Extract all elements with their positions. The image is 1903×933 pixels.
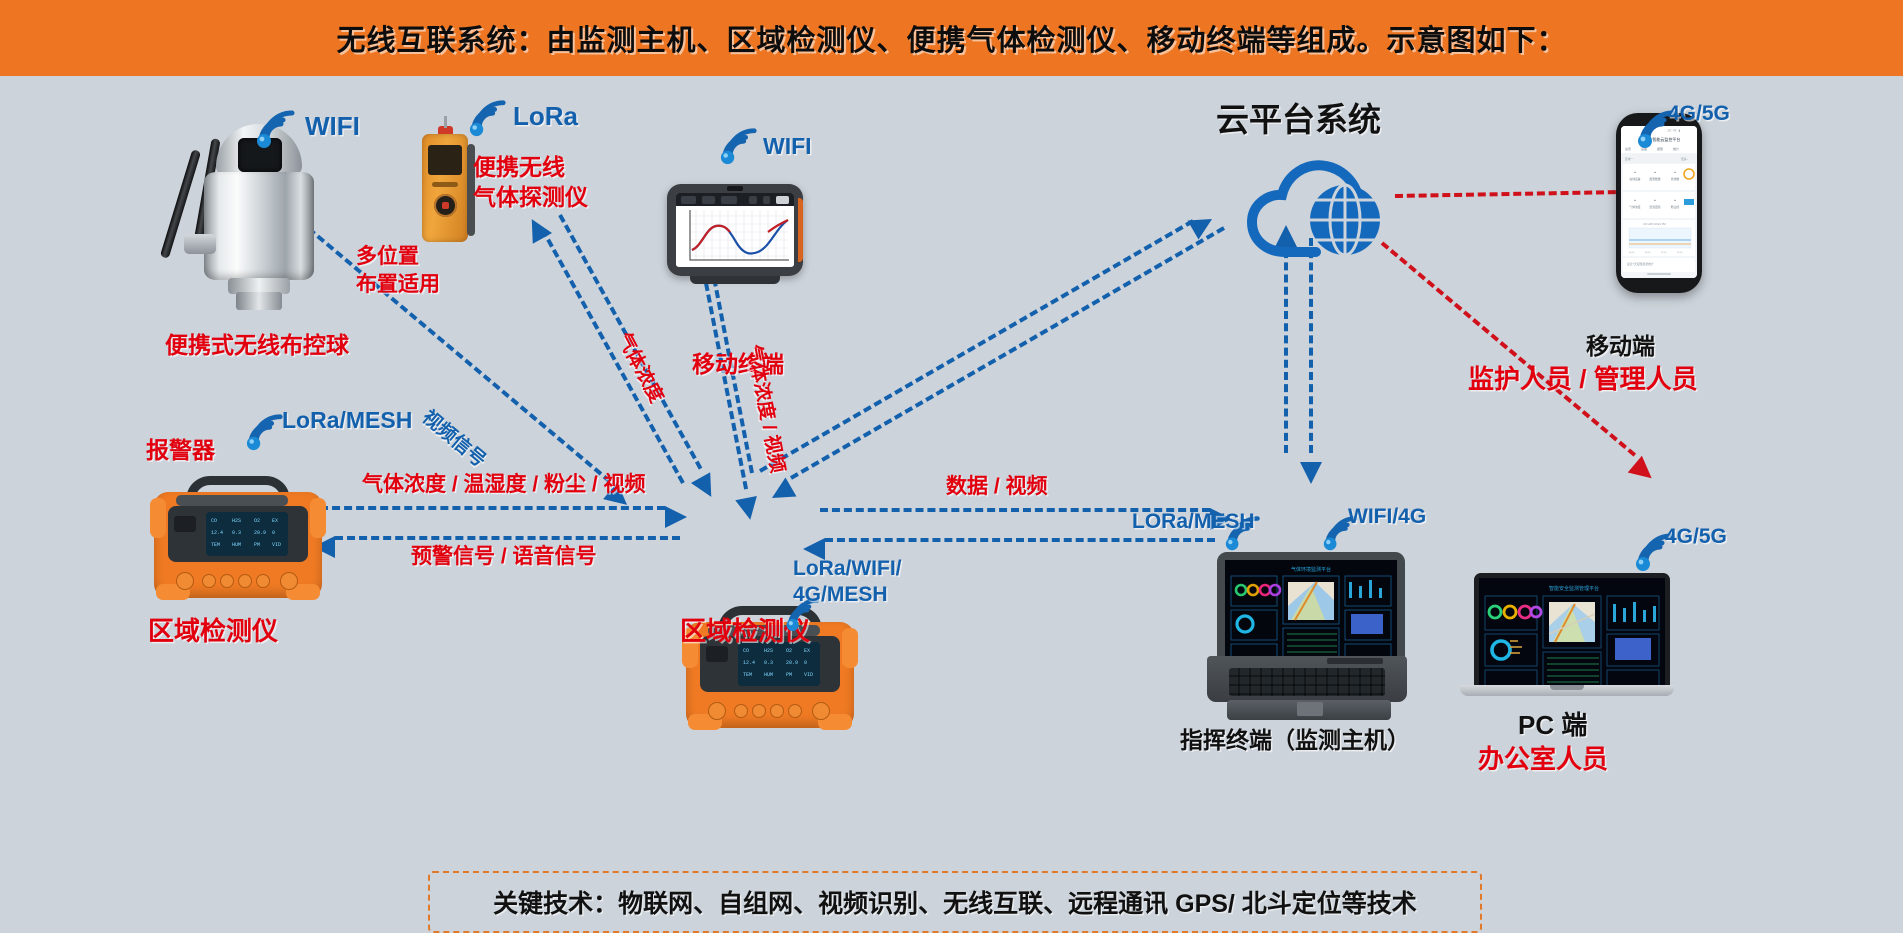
svg-text:气体环境监测平台: 气体环境监测平台 <box>1291 566 1331 573</box>
flow-label-video-signal: 视频信号 <box>417 406 490 473</box>
tablet-status-bar <box>676 193 794 206</box>
lora-mesh-label-alarm: LoRa/MESH <box>282 406 412 434</box>
svg-text:在线设备: 在线设备 <box>1629 177 1640 181</box>
svg-text:温湿度值: 温湿度值 <box>1649 205 1660 209</box>
tablet-status-pill <box>749 196 756 204</box>
connector-cloud-to-area-mid <box>790 226 1225 479</box>
svg-text:O2: O2 <box>786 648 792 654</box>
connector-area-left-to-area-mid <box>320 506 665 510</box>
svg-text:离线数: 离线数 <box>1671 177 1680 181</box>
device-command-terminal[interactable]: 气体环境监测平台 <box>1203 552 1418 722</box>
ptz-base <box>236 292 282 310</box>
svg-text:PM: PM <box>786 672 792 678</box>
lora-wifi-label-line2: 4G/MESH <box>793 582 888 608</box>
svg-text:0.3: 0.3 <box>764 660 773 666</box>
tablet-side-grip <box>798 198 803 262</box>
arrowhead-cloud-to-area-mid <box>766 477 796 507</box>
area-detector-speaker <box>174 516 196 532</box>
wifi-4g-label-command: WIFI/4G <box>1348 504 1426 530</box>
svg-text:报警数量: 报警数量 <box>1649 177 1660 181</box>
svg-text:CO: CO <box>211 518 217 524</box>
connector-handheld-to-area-mid <box>541 228 685 484</box>
wifi-label-ptz: WIFI <box>305 111 360 143</box>
svg-text:12.4: 12.4 <box>743 660 755 666</box>
command-terminal-status-strip <box>1327 658 1383 664</box>
area-detector-left-label: 区域检测仪 <box>148 616 278 648</box>
svg-text:粉尘值: 粉尘值 <box>1671 205 1680 209</box>
arrowhead-area-left-to-area-mid <box>665 506 687 528</box>
area-detector-button[interactable] <box>708 702 726 720</box>
area-detector-button[interactable] <box>238 574 252 588</box>
command-terminal-lid: 气体环境监测平台 <box>1217 552 1405 672</box>
handheld-probe <box>444 116 447 128</box>
svg-text:更多 ›: 更多 › <box>1681 157 1688 161</box>
area-detector-button[interactable] <box>812 702 830 720</box>
svg-text:区域一: 区域一 <box>1625 157 1634 161</box>
arrowhead-cloud-to-command <box>1300 462 1322 484</box>
handheld-vent <box>432 182 458 187</box>
svg-text:O2: O2 <box>254 518 260 524</box>
tablet-chart <box>676 206 794 266</box>
svg-text:H2S: H2S <box>232 518 241 524</box>
svg-text:▲: ▲ <box>1674 170 1677 174</box>
svg-text:▲: ▲ <box>1654 198 1657 202</box>
area-detector-screen: COH2SO2EX 12.40.320.90 TEMHUMPMVID <box>738 642 820 686</box>
lora-wifi-label-line1: LoRa/WIFI/ <box>793 556 902 582</box>
svg-text:智能安全监测管理平台: 智能安全监测管理平台 <box>1549 585 1599 592</box>
svg-text:06:00: 06:00 <box>1645 252 1651 254</box>
svg-text:12.4: 12.4 <box>211 530 223 536</box>
pc-label: PC 端 <box>1518 710 1587 742</box>
area-detector-screen: COH2SO2EX 12.40.320.90 TEMHUMPMVID <box>206 512 288 556</box>
4g5g-label-pc: 4G/5G <box>1665 524 1727 550</box>
svg-text:20.9: 20.9 <box>786 660 798 666</box>
lora-label-handheld: LoRa <box>513 101 578 133</box>
svg-text:HUM: HUM <box>764 672 773 678</box>
device-area-detector-left[interactable]: COH2SO2EX 12.40.320.90 TEMHUMPMVID <box>148 476 328 606</box>
area-detector-button[interactable] <box>788 704 802 718</box>
svg-text:最近7天报警趋势统计: 最近7天报警趋势统计 <box>1627 262 1654 266</box>
command-terminal-keyboard[interactable] <box>1229 668 1385 696</box>
svg-text:气体浓度: 气体浓度 <box>1629 205 1640 209</box>
area-detector-speaker <box>706 646 728 662</box>
handheld-screen <box>428 145 462 175</box>
area-detector-button[interactable] <box>256 574 270 588</box>
area-detector-button[interactable] <box>220 574 234 588</box>
handheld-label-line1: 便携无线 <box>473 153 565 181</box>
key-technologies-box: 关键技术：物联网、自组网、视频识别、无线互联、远程通讯 GPS/ 北斗定位等技术 <box>428 871 1482 933</box>
diagram-canvas: WIFI 便携式无线布控球 LoRa 多位置 布置适用 便携无线 气体探测仪 <box>0 76 1903 870</box>
wifi-icon-handheld <box>466 98 510 138</box>
connector-area-mid-to-area-left <box>335 536 680 540</box>
ptz-camera-label: 便携式无线布控球 <box>165 331 349 359</box>
tablet-camera <box>727 186 743 191</box>
ptz-body <box>204 172 314 280</box>
svg-text:18:00: 18:00 <box>1677 252 1683 254</box>
flow-label-warning-voice: 预警信号 / 语音信号 <box>411 544 597 570</box>
svg-text:CO H2S O2 EX PM: CO H2S O2 EX PM <box>1643 222 1666 226</box>
tablet-status-pill <box>763 196 770 204</box>
svg-text:PM: PM <box>254 542 260 548</box>
svg-text:▲: ▲ <box>1674 198 1677 202</box>
cloud-platform-label: 云平台系统 <box>1216 100 1381 140</box>
svg-text:VID: VID <box>272 542 281 548</box>
handheld-body <box>422 134 468 242</box>
connector-command-to-cloud <box>1284 238 1288 453</box>
handheld-note-line1: 多位置 <box>356 244 419 270</box>
svg-text:EX: EX <box>804 648 810 654</box>
connector-command-to-area-mid <box>825 538 1215 542</box>
svg-text:VID: VID <box>804 672 813 678</box>
page-header: 无线互联系统：由监测主机、区域检测仪、便携气体检测仪、移动终端等组成。示意图如下… <box>0 0 1903 76</box>
area-detector-shell: COH2SO2EX 12.40.320.90 TEMHUMPMVID <box>154 492 322 598</box>
tablet-status-pill <box>681 196 696 204</box>
4g5g-label-mobile: 4G/5G <box>1668 101 1730 127</box>
area-detector-button[interactable] <box>280 572 298 590</box>
tablet-status-pill <box>721 196 738 204</box>
area-detector-button[interactable] <box>734 704 748 718</box>
handheld-label-line2: 气体探测仪 <box>473 183 588 211</box>
mobile-sub-label: 监护人员 / 管理人员 <box>1468 364 1698 396</box>
command-terminal-screen: 气体环境监测平台 <box>1225 560 1397 664</box>
pc-laptop-screen: 智能安全监测管理平台 <box>1479 578 1665 690</box>
flow-label-data-video: 数据 / 视频 <box>946 474 1048 500</box>
ptz-mount <box>184 234 216 254</box>
svg-text:HUM: HUM <box>232 542 241 548</box>
device-tablet[interactable] <box>667 184 803 276</box>
handheld-note-line2: 布置适用 <box>356 272 440 298</box>
tablet-status-pill <box>702 196 715 204</box>
key-technologies-text: 关键技术：物联网、自组网、视频识别、无线互联、远程通讯 GPS/ 北斗定位等技术 <box>493 884 1417 920</box>
page-title: 无线互联系统：由监测主机、区域检测仪、便携气体检测仪、移动终端等组成。示意图如下… <box>336 17 1566 59</box>
wifi-label-tablet: WIFI <box>763 132 812 160</box>
svg-text:▲: ▲ <box>1634 198 1637 202</box>
svg-text:CO: CO <box>743 648 749 654</box>
connector-cloud-to-command <box>1309 238 1313 453</box>
area-detector-button[interactable] <box>770 704 784 718</box>
svg-text:0.3: 0.3 <box>232 530 241 536</box>
area-detector-corner <box>310 498 326 538</box>
wifi-icon-alarm <box>243 412 287 452</box>
tablet-stand <box>690 276 780 284</box>
svg-text:TEM: TEM <box>211 542 220 548</box>
area-detector-corner <box>150 498 166 538</box>
cloud-platform-icon <box>1242 148 1402 269</box>
handheld-center-key <box>442 202 449 209</box>
arrowhead-area-mid-to-tablet <box>735 496 761 522</box>
arrowhead-cloud-to-pc <box>1628 456 1659 487</box>
svg-text:TEM: TEM <box>743 672 752 678</box>
svg-text:00:00: 00:00 <box>1629 252 1635 254</box>
lora-mesh-label-command: LORa/MESH <box>1132 509 1255 535</box>
svg-text:EX: EX <box>272 518 278 524</box>
pc-laptop-notch <box>1550 685 1584 690</box>
pc-sub-label: 办公室人员 <box>1478 744 1608 776</box>
wifi-icon-ptz <box>253 108 299 150</box>
area-detector-face: COH2SO2EX 12.40.320.90 TEMHUMPMVID <box>168 506 308 562</box>
connector-area-mid-to-tablet <box>704 283 748 490</box>
flow-label-gas-temp-dust-video: 气体浓度 / 温湿度 / 粉尘 / 视频 <box>362 472 646 498</box>
command-terminal-label: 指挥终端（监测主机） <box>1180 726 1410 754</box>
svg-text:▲: ▲ <box>1634 170 1637 174</box>
tablet-battery-icon <box>776 196 789 204</box>
device-pc-laptop[interactable]: 智能安全监测管理平台 <box>1460 573 1690 708</box>
svg-text:总览: 总览 <box>1625 146 1631 151</box>
area-detector-button[interactable] <box>176 572 194 590</box>
svg-text:▲: ▲ <box>1654 170 1657 174</box>
mobile-label: 移动端 <box>1586 332 1655 360</box>
tablet-screen <box>676 193 794 267</box>
arrowhead-area-mid-to-handheld <box>691 472 721 502</box>
svg-text:0: 0 <box>804 660 807 666</box>
area-detector-button[interactable] <box>752 704 766 718</box>
connector-area-mid-to-cloud <box>759 219 1194 472</box>
command-terminal-touchpad[interactable] <box>1297 702 1323 716</box>
svg-text:12:00: 12:00 <box>1661 252 1667 254</box>
alarm-label: 报警器 <box>146 436 215 464</box>
area-detector-corner <box>842 628 858 668</box>
svg-text:20.9: 20.9 <box>254 530 266 536</box>
command-terminal-base <box>1207 656 1407 702</box>
svg-text:0: 0 <box>272 530 275 536</box>
tablet-label: 移动终端 <box>692 350 784 378</box>
area-detector-vent <box>176 495 288 506</box>
wifi-icon-tablet <box>717 126 761 166</box>
svg-text:H2S: H2S <box>764 648 773 654</box>
pc-laptop-lid: 智能安全监测管理平台 <box>1474 573 1670 695</box>
area-detector-button[interactable] <box>202 574 216 588</box>
